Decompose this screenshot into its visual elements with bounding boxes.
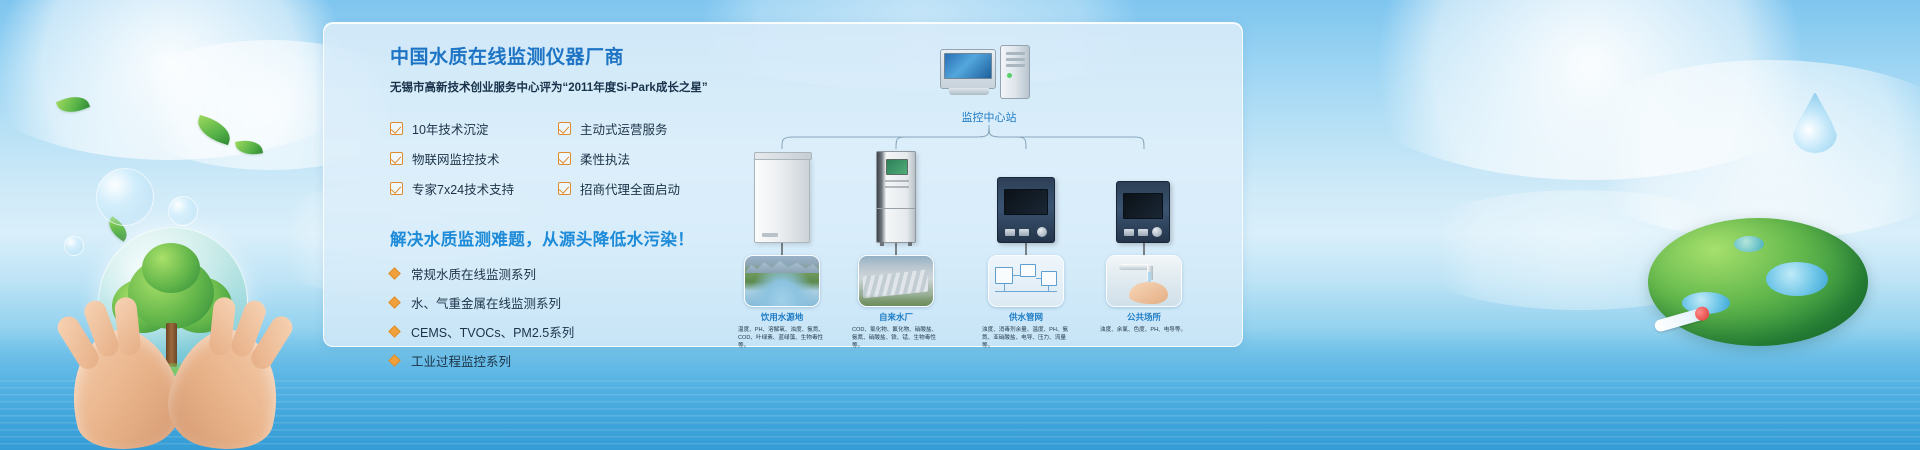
check-icon bbox=[390, 122, 403, 135]
faucet-image bbox=[1107, 256, 1181, 306]
monitoring-center-label: 监控中心站 bbox=[914, 109, 1064, 125]
check-icon bbox=[390, 182, 403, 195]
device-controller-small[interactable] bbox=[1116, 181, 1170, 243]
scenario-description: COD、氯化物、氟化物、硝酸盐、氨氮、硝酸盐、铁、锰、生物毒性等。 bbox=[852, 326, 940, 350]
checklist-item: 主动式运营服务 bbox=[558, 119, 748, 138]
leaf-icon bbox=[235, 138, 263, 156]
controller-display bbox=[1004, 189, 1048, 215]
controller-body bbox=[1116, 181, 1170, 243]
check-icon bbox=[558, 182, 571, 195]
check-icon bbox=[558, 122, 571, 135]
scenario-description: 浊度、余氯、色度、PH、电导等。 bbox=[1100, 326, 1188, 334]
leaf-icon bbox=[56, 91, 90, 118]
list-item[interactable]: CEMS、TVOCs、PM2.5系列 bbox=[390, 322, 750, 341]
water-shine bbox=[0, 380, 1920, 450]
pipeline-schematic-image bbox=[989, 256, 1063, 306]
water-plant-image bbox=[859, 256, 933, 306]
scenario-caption: 公共场所 bbox=[1106, 311, 1182, 323]
river-image bbox=[745, 256, 819, 306]
scenario-thumbnail bbox=[988, 255, 1064, 307]
controller-brand-text bbox=[1122, 186, 1164, 192]
monitoring-center-server bbox=[940, 45, 1032, 103]
list-item-label: 常规水质在线监测系列 bbox=[411, 264, 536, 283]
controller-buttons[interactable] bbox=[1005, 229, 1029, 236]
controller-knob[interactable] bbox=[1152, 227, 1162, 237]
cloud-decoration bbox=[1330, 0, 1850, 180]
checklist-item-label: 主动式运营服务 bbox=[580, 119, 668, 138]
list-item[interactable]: 水、气重金属在线监测系列 bbox=[390, 293, 750, 312]
cloud-decoration bbox=[1560, 60, 1920, 240]
status-led bbox=[1007, 73, 1012, 78]
monitor-screen bbox=[944, 53, 992, 79]
feature-checklist: 10年技术沉淀 主动式运营服务 物联网监控技术 柔性执法 专家7x24技术支持 … bbox=[390, 119, 750, 198]
eco-globe-illustration bbox=[1648, 218, 1868, 378]
hands-holding-tree-illustration bbox=[70, 205, 280, 450]
list-item-label: CEMS、TVOCs、PM2.5系列 bbox=[411, 322, 574, 341]
list-item-label: 工业过程监控系列 bbox=[411, 351, 511, 370]
controller-brand-text bbox=[1003, 182, 1049, 188]
checklist-item-label: 10年技术沉淀 bbox=[412, 119, 488, 138]
checklist-item: 10年技术沉淀 bbox=[390, 119, 558, 138]
device-water-quality-cabinet[interactable] bbox=[754, 157, 810, 243]
checklist-item: 柔性执法 bbox=[558, 149, 748, 168]
analyzer-screen bbox=[886, 159, 908, 175]
tree-trunk bbox=[166, 323, 177, 367]
tree-foliage bbox=[142, 243, 200, 293]
section-headline: 解决水质监测难题，从源头降低水污染！ bbox=[390, 226, 750, 250]
hero-panel: 中国水质在线监测仪器厂商 无锡市高新技术创业服务中心评为“2011年度Si-Pa… bbox=[323, 22, 1243, 347]
hero-text-column: 中国水质在线监测仪器厂商 无锡市高新技术创业服务中心评为“2011年度Si-Pa… bbox=[390, 45, 750, 380]
device-online-analyzer[interactable] bbox=[876, 151, 916, 243]
diamond-bullet-icon bbox=[388, 267, 401, 280]
checklist-item-label: 物联网监控技术 bbox=[412, 149, 500, 168]
scenario-caption: 饮用水源地 bbox=[744, 311, 820, 323]
diamond-bullet-icon bbox=[388, 325, 401, 338]
page-subtitle: 无锡市高新技术创业服务中心评为“2011年度Si-Park成长之星” bbox=[390, 80, 750, 97]
list-item-label: 水、气重金属在线监测系列 bbox=[411, 293, 561, 312]
cabinet-body bbox=[754, 157, 810, 243]
checklist-item: 招商代理全面启动 bbox=[558, 179, 748, 198]
analyzer-body bbox=[876, 151, 916, 243]
controller-knob[interactable] bbox=[1037, 227, 1047, 237]
checklist-item: 物联网监控技术 bbox=[390, 149, 558, 168]
checklist-item-label: 专家7x24技术支持 bbox=[412, 179, 514, 198]
scenario-description: 温度、PH、溶解氧、浊度、氨氮、COD、叶绿素、蓝绿藻、生物毒性等。 bbox=[738, 326, 826, 350]
system-topology-diagram: 监控中心站 bbox=[754, 33, 1234, 343]
device-controller-large[interactable] bbox=[997, 177, 1055, 243]
list-item[interactable]: 工业过程监控系列 bbox=[390, 351, 750, 370]
checklist-item: 专家7x24技术支持 bbox=[390, 179, 558, 198]
controller-display bbox=[1123, 193, 1163, 219]
diamond-bullet-icon bbox=[388, 296, 401, 309]
list-item[interactable]: 常规水质在线监测系列 bbox=[390, 264, 750, 283]
water-droplet-icon bbox=[1792, 92, 1838, 154]
controller-body bbox=[997, 177, 1055, 243]
monitor-base bbox=[949, 88, 989, 95]
check-icon bbox=[558, 152, 571, 165]
diamond-bullet-icon bbox=[388, 354, 401, 367]
lake-shape bbox=[1734, 236, 1764, 252]
computer-monitor-icon bbox=[940, 49, 996, 89]
device-row bbox=[754, 151, 1234, 243]
page-title: 中国水质在线监测仪器厂商 bbox=[390, 45, 750, 71]
checklist-item-label: 柔性执法 bbox=[580, 149, 630, 168]
green-globe bbox=[1648, 218, 1868, 346]
scenario-caption: 自来水厂 bbox=[858, 311, 934, 323]
scenario-thumbnail bbox=[1106, 255, 1182, 307]
scenario-thumbnail bbox=[744, 255, 820, 307]
scenario-thumbnail bbox=[858, 255, 934, 307]
checklist-item-label: 招商代理全面启动 bbox=[580, 179, 680, 198]
lake-shape bbox=[1766, 262, 1828, 296]
server-tower-icon bbox=[1000, 45, 1030, 99]
scenario-card[interactable]: 公共场所 浊度、余氯、色度、PH、电导等。 bbox=[1106, 255, 1182, 334]
controller-buttons[interactable] bbox=[1124, 229, 1148, 236]
product-series-list: 常规水质在线监测系列 水、气重金属在线监测系列 CEMS、TVOCs、PM2.5… bbox=[390, 264, 750, 370]
scenario-card[interactable]: 供水管网 浊度、消毒剂余量、温度、PH、氨氮、亚硝酸盐、电导、压力、流量等。 bbox=[988, 255, 1064, 350]
scenario-card[interactable]: 饮用水源地 温度、PH、溶解氧、浊度、氨氮、COD、叶绿素、蓝绿藻、生物毒性等。 bbox=[744, 255, 820, 350]
leaf-icon bbox=[194, 115, 234, 145]
application-scenarios: 饮用水源地 温度、PH、溶解氧、浊度、氨氮、COD、叶绿素、蓝绿藻、生物毒性等。… bbox=[754, 255, 1234, 343]
scenario-card[interactable]: 自来水厂 COD、氯化物、氟化物、硝酸盐、氨氮、硝酸盐、铁、锰、生物毒性等。 bbox=[858, 255, 934, 350]
scenario-caption: 供水管网 bbox=[988, 311, 1064, 323]
scenario-description: 浊度、消毒剂余量、温度、PH、氨氮、亚硝酸盐、电导、压力、流量等。 bbox=[982, 326, 1070, 350]
check-icon bbox=[390, 152, 403, 165]
